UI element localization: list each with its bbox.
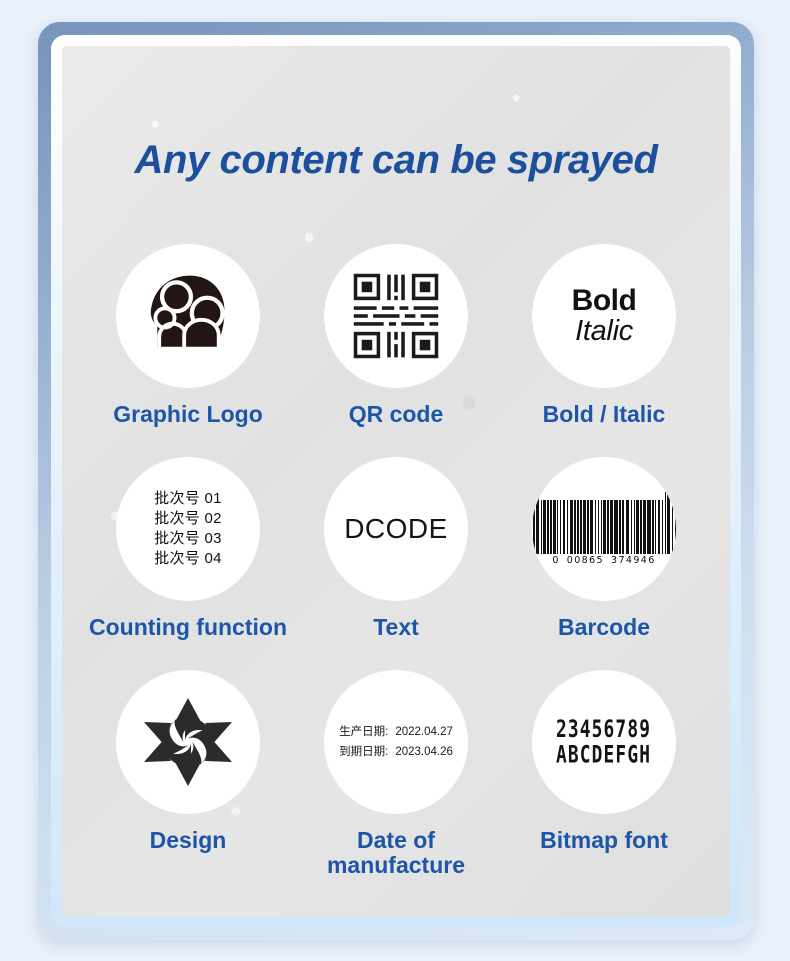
counting-line: 批次号 04: [154, 549, 222, 569]
tile-label: Graphic Logo: [113, 402, 263, 427]
bitmap-font-sample: 23456789 ABCDEFGH: [556, 716, 651, 768]
tile-qr-code[interactable]: QR code: [292, 244, 500, 457]
poster-frame: Any content can be sprayed: [38, 22, 754, 940]
bubble-barcode: 0 00865 374946: [532, 457, 676, 601]
page-title: Any content can be sprayed: [62, 138, 730, 183]
qr-code-icon: [352, 272, 440, 360]
tile-date-of-manufacture[interactable]: 生产日期:2022.04.27 到期日期:2023.04.26 Date of …: [292, 670, 500, 883]
tile-label: QR code: [349, 402, 444, 427]
tile-label: Bitmap font: [540, 828, 668, 853]
tile-label: Text: [373, 615, 419, 640]
text-sample: DCODE: [344, 513, 448, 545]
bitmap-line-digits: 23456789: [556, 716, 651, 742]
abstract-bubble-logo-icon: [140, 268, 236, 364]
bubble-design: [116, 670, 260, 814]
expiry-date-label: 到期日期:: [339, 746, 388, 758]
pinwheel-star-icon: [138, 692, 238, 792]
tile-design[interactable]: Design: [84, 670, 292, 883]
tile-label: Design: [150, 828, 227, 853]
tile-label: Date of manufacture: [327, 828, 465, 878]
date-row: 生产日期:2022.04.27: [339, 722, 453, 742]
bubble-qr-code: [324, 244, 468, 388]
tile-text[interactable]: DCODE Text: [292, 457, 500, 670]
bitmap-line-letters: ABCDEFGH: [556, 742, 651, 768]
counting-line: 批次号 03: [154, 529, 222, 549]
bubble-date-of-manufacture: 生产日期:2022.04.27 到期日期:2023.04.26: [324, 670, 468, 814]
tile-bold-italic[interactable]: Bold Italic Bold / Italic: [500, 244, 708, 457]
poster-panel: Any content can be sprayed: [62, 46, 730, 916]
barcode-digit-left: 0: [552, 555, 559, 566]
sample-italic-text: Italic: [572, 317, 637, 347]
tile-barcode[interactable]: 0 00865 374946 Barcode: [500, 457, 708, 670]
counting-line: 批次号 01: [154, 489, 222, 509]
bold-italic-sample: Bold Italic: [572, 286, 637, 346]
tile-label: Counting function: [89, 615, 287, 640]
bubble-bold-italic: Bold Italic: [532, 244, 676, 388]
counting-line: 批次号 02: [154, 509, 222, 529]
expiry-date-value: 2023.04.26: [395, 746, 453, 758]
date-row: 到期日期:2023.04.26: [339, 742, 453, 762]
sample-bold-text: Bold: [572, 286, 637, 317]
bubble-text: DCODE: [324, 457, 468, 601]
bubble-bitmap-font: 23456789 ABCDEFGH: [532, 670, 676, 814]
barcode-digit-group2: 374946: [611, 555, 656, 566]
tile-graphic-logo[interactable]: Graphic Logo: [84, 244, 292, 457]
counting-sample-lines: 批次号 01 批次号 02 批次号 03 批次号 04: [154, 489, 222, 569]
date-sample: 生产日期:2022.04.27 到期日期:2023.04.26: [339, 722, 453, 762]
tile-label: Barcode: [558, 615, 650, 640]
bubble-counting-function: 批次号 01 批次号 02 批次号 03 批次号 04: [116, 457, 260, 601]
bubble-graphic-logo: [116, 244, 260, 388]
tile-label: Bold / Italic: [543, 402, 666, 427]
barcode-icon: 0 00865 374946: [532, 492, 676, 566]
tile-bitmap-font[interactable]: 23456789 ABCDEFGH Bitmap font: [500, 670, 708, 883]
poster-inner-bevel: Any content can be sprayed: [51, 35, 741, 927]
tile-counting-function[interactable]: 批次号 01 批次号 02 批次号 03 批次号 04 Counting fun…: [84, 457, 292, 670]
production-date-value: 2022.04.27: [395, 726, 453, 738]
production-date-label: 生产日期:: [339, 726, 388, 738]
feature-tile-grid: Graphic Logo: [84, 244, 708, 883]
barcode-digits: 0 00865 374946: [552, 555, 655, 566]
barcode-digit-group1: 00865: [567, 555, 604, 566]
barcode-bars: [532, 492, 676, 554]
